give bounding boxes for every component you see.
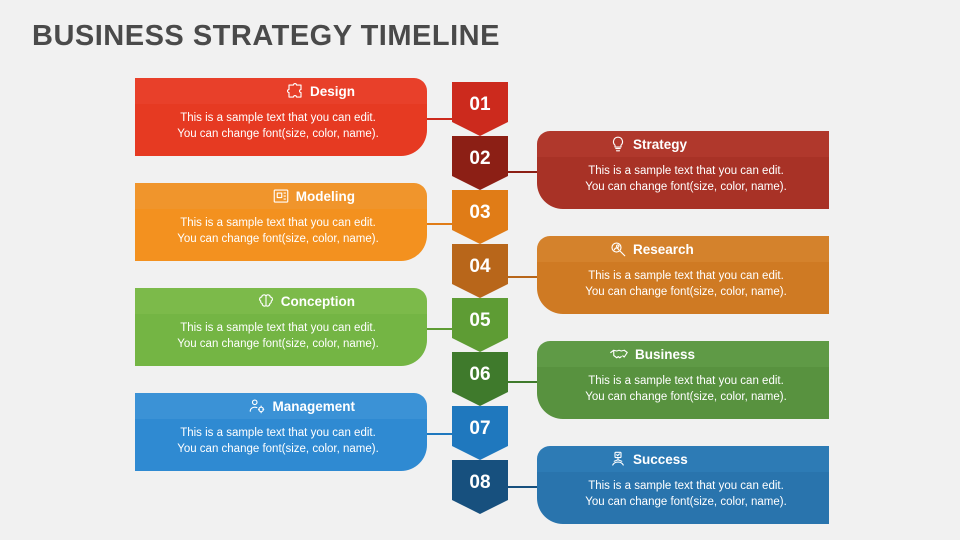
card-header: Research [537, 236, 829, 262]
card-body: This is a sample text that you can edit.… [135, 209, 427, 261]
card-body: This is a sample text that you can edit.… [537, 472, 829, 524]
card-text-line-2: You can change font(size, color, name). [543, 179, 829, 195]
step-number: 02 [452, 136, 508, 182]
step-number: 06 [452, 352, 508, 398]
card-text-line-2: You can change font(size, color, name). [135, 231, 421, 247]
step-card-design[interactable]: DesignThis is a sample text that you can… [135, 78, 427, 156]
card-text-line-2: You can change font(size, color, name). [135, 336, 421, 352]
card-text-line-1: This is a sample text that you can edit. [135, 215, 421, 231]
connector-line-08 [508, 486, 537, 488]
timeline-step-08[interactable]: 08 [452, 460, 508, 514]
card-header: Design [135, 78, 427, 104]
connector-line-02 [508, 171, 537, 173]
card-body: This is a sample text that you can edit.… [537, 157, 829, 209]
timeline-step-03[interactable]: 03 [452, 190, 508, 244]
card-text-line-1: This is a sample text that you can edit. [543, 478, 829, 494]
timeline-step-04[interactable]: 04 [452, 244, 508, 298]
card-title: Strategy [633, 137, 687, 152]
card-text-line-2: You can change font(size, color, name). [543, 284, 829, 300]
card-text-line-1: This is a sample text that you can edit. [543, 268, 829, 284]
card-text-line-1: This is a sample text that you can edit. [135, 110, 421, 126]
card-text-line-2: You can change font(size, color, name). [543, 389, 829, 405]
card-header: Conception [135, 288, 427, 314]
card-header: Management [135, 393, 427, 419]
connector-line-07 [427, 433, 452, 435]
connector-line-01 [427, 118, 452, 120]
timeline-step-06[interactable]: 06 [452, 352, 508, 406]
connector-line-05 [427, 328, 452, 330]
timeline-arrow-column: 0102030405060708 [452, 82, 508, 518]
step-card-success[interactable]: SuccessThis is a sample text that you ca… [537, 446, 829, 524]
card-title: Modeling [296, 189, 355, 204]
step-card-research[interactable]: ResearchThis is a sample text that you c… [537, 236, 829, 314]
step-number: 08 [452, 460, 508, 506]
connector-line-04 [508, 276, 537, 278]
step-card-management[interactable]: ManagementThis is a sample text that you… [135, 393, 427, 471]
card-text-line-2: You can change font(size, color, name). [135, 126, 421, 142]
connector-line-06 [508, 381, 537, 383]
step-number: 05 [452, 298, 508, 344]
card-title: Research [633, 242, 694, 257]
timeline-step-07[interactable]: 07 [452, 406, 508, 460]
card-title: Business [635, 347, 695, 362]
arrow-top-cap [452, 82, 508, 96]
step-card-conception[interactable]: ConceptionThis is a sample text that you… [135, 288, 427, 366]
card-title: Success [633, 452, 688, 467]
step-number: 04 [452, 244, 508, 290]
step-number: 07 [452, 406, 508, 452]
card-body: This is a sample text that you can edit.… [135, 314, 427, 366]
step-number: 03 [452, 190, 508, 236]
timeline-step-02[interactable]: 02 [452, 136, 508, 190]
step-card-business[interactable]: BusinessThis is a sample text that you c… [537, 341, 829, 419]
card-body: This is a sample text that you can edit.… [537, 262, 829, 314]
card-text-line-2: You can change font(size, color, name). [135, 441, 421, 457]
user-gear-icon [248, 397, 266, 415]
step-card-modeling[interactable]: ModelingThis is a sample text that you c… [135, 183, 427, 261]
card-text-line-1: This is a sample text that you can edit. [135, 425, 421, 441]
handshake-icon [609, 345, 629, 363]
trophy-person-icon [609, 450, 627, 468]
card-body: This is a sample text that you can edit.… [135, 419, 427, 471]
puzzle-icon [286, 82, 304, 100]
card-text-line-2: You can change font(size, color, name). [543, 494, 829, 510]
card-text-line-1: This is a sample text that you can edit. [543, 373, 829, 389]
blueprint-icon [272, 187, 290, 205]
magnifier-person-icon [609, 240, 627, 258]
card-header: Strategy [537, 131, 829, 157]
card-title: Conception [281, 294, 355, 309]
card-body: This is a sample text that you can edit.… [135, 104, 427, 156]
page-title: BUSINESS STRATEGY TIMELINE [32, 20, 500, 53]
connector-line-03 [427, 223, 452, 225]
card-title: Management [272, 399, 355, 414]
card-text-line-1: This is a sample text that you can edit. [135, 320, 421, 336]
card-header: Business [537, 341, 829, 367]
card-header: Success [537, 446, 829, 472]
brain-icon [257, 292, 275, 310]
card-body: This is a sample text that you can edit.… [537, 367, 829, 419]
lightbulb-icon [609, 135, 627, 153]
step-card-strategy[interactable]: StrategyThis is a sample text that you c… [537, 131, 829, 209]
timeline-step-05[interactable]: 05 [452, 298, 508, 352]
card-header: Modeling [135, 183, 427, 209]
arrow-cap-shape [452, 82, 508, 96]
card-title: Design [310, 84, 355, 99]
card-text-line-1: This is a sample text that you can edit. [543, 163, 829, 179]
